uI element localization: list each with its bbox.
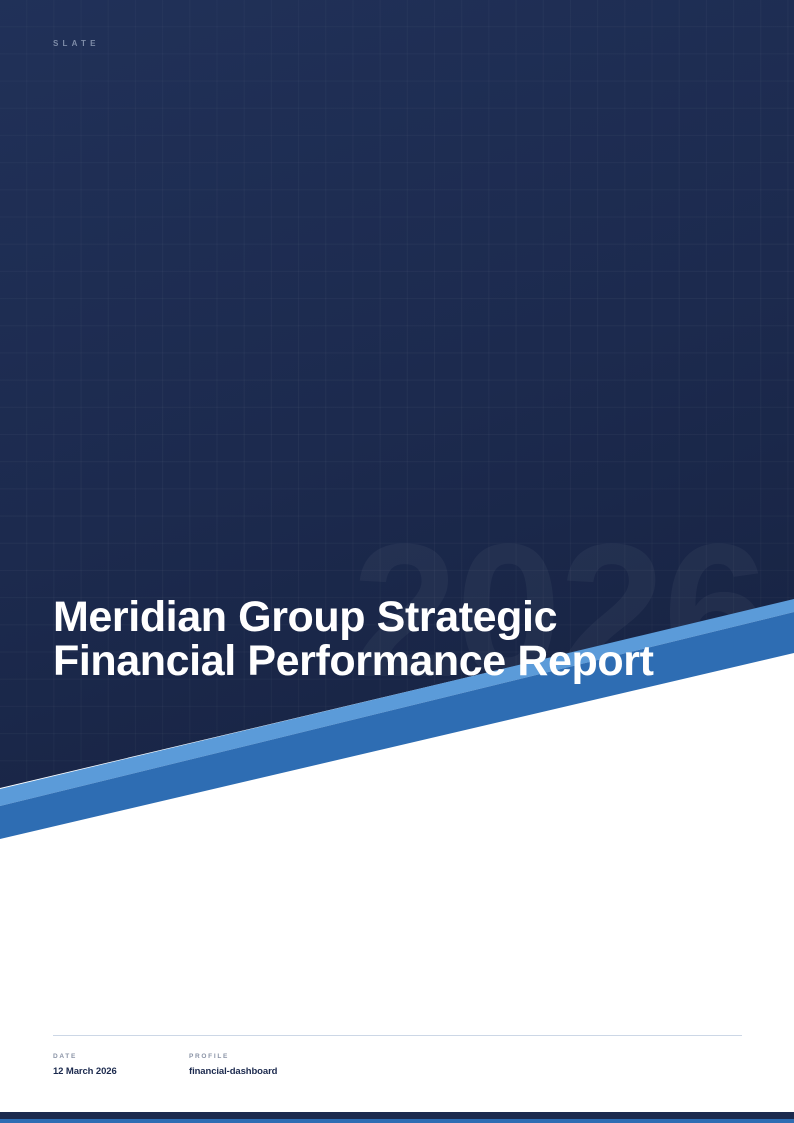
hero-gradient-overlay <box>0 0 794 860</box>
grid-pattern <box>0 0 794 860</box>
meta-label-date: DATE <box>53 1053 189 1060</box>
footer-metadata: DATE 12 March 2026 PROFILE financial-das… <box>53 1053 325 1077</box>
footer-divider <box>53 1035 742 1036</box>
meta-label-profile: PROFILE <box>189 1053 325 1060</box>
meta-field-profile: PROFILE financial-dashboard <box>189 1053 325 1077</box>
hero-panel: 2026 <box>0 0 794 860</box>
meta-field-date: DATE 12 March 2026 <box>53 1053 189 1077</box>
bottom-bar-accent <box>0 1119 794 1123</box>
bottom-bar-navy <box>0 1112 794 1119</box>
brand-logo: SLATE <box>53 39 100 48</box>
cover-page: 2026 SLATE Meridian Group Strategic Fina… <box>0 0 794 1123</box>
meta-value-date: 12 March 2026 <box>53 1066 189 1077</box>
meta-value-profile: financial-dashboard <box>189 1066 325 1077</box>
page-title: Meridian Group Strategic Financial Perfo… <box>53 595 713 683</box>
